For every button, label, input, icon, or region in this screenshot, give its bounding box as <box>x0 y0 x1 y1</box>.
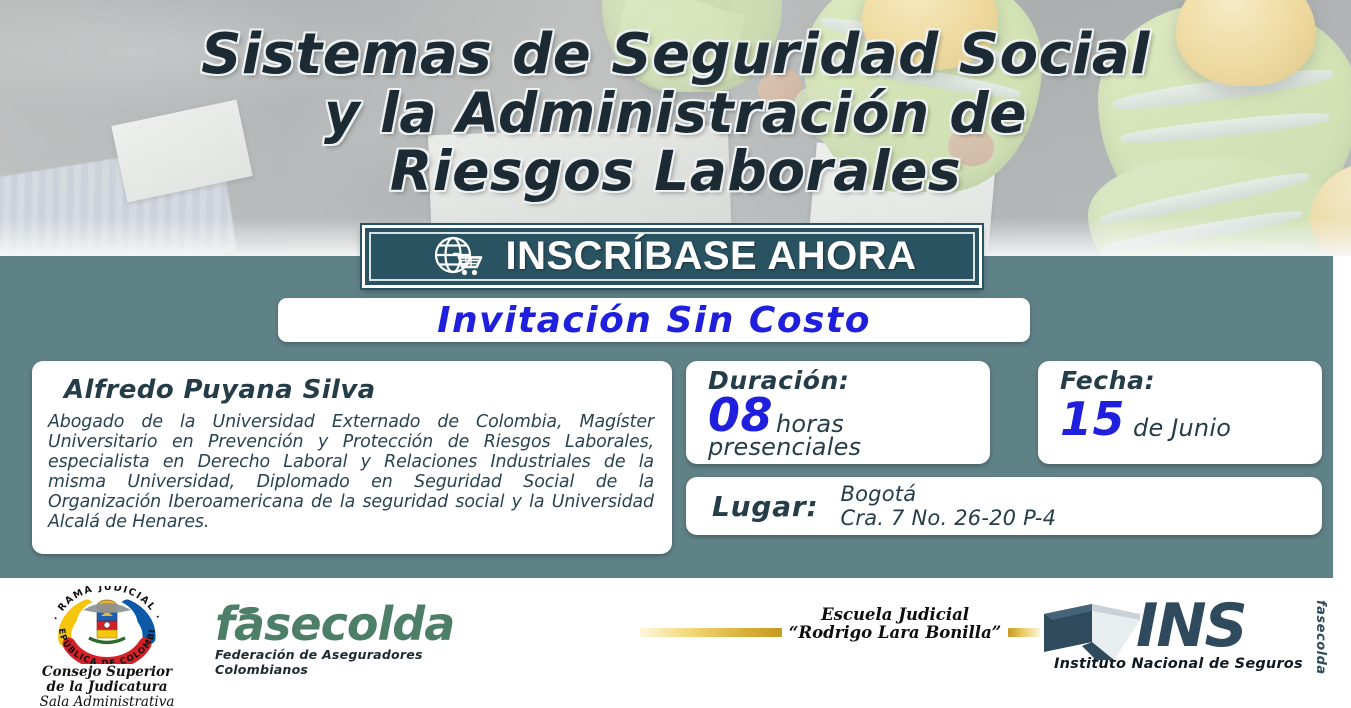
ins-mark-row: INS fasecolda <box>1040 596 1330 658</box>
speaker-bio: Abogado de la Universidad Externado de C… <box>46 412 658 533</box>
hero-photo <box>0 0 1351 256</box>
place-city: Bogotá <box>841 482 1057 506</box>
place-card: Lugar: Bogotá Cra. 7 No. 26-20 P-4 <box>686 477 1322 535</box>
gold-bar-right <box>1008 628 1040 637</box>
escuela-text: Escuela Judicial “Rodrigo Lara Bonilla” <box>789 606 1001 643</box>
rama-line-2: de la Judicatura <box>22 680 192 695</box>
speaker-name: Alfredo Puyana Silva <box>64 375 658 405</box>
escuela-line-2: “Rodrigo Lara Bonilla” <box>789 624 1001 642</box>
fasecolda-tagline: Federación de Aseguradores Colombianos <box>215 647 505 677</box>
gold-bar-left <box>640 628 782 637</box>
ins-wordmark: INS <box>1136 596 1246 656</box>
speaker-card: Alfredo Puyana Silva Abogado de la Unive… <box>32 361 672 554</box>
date-card: Fecha: 15 de Junio <box>1038 361 1322 464</box>
place-value: Bogotá Cra. 7 No. 26-20 P-4 <box>841 482 1057 531</box>
duration-card: Duración: 08 horas presenciales <box>686 361 990 464</box>
poster-canvas: Sistemas de Seguridad Social y la Admini… <box>0 0 1351 708</box>
ins-logo: INS fasecolda Instituto Nacional de Segu… <box>1040 596 1330 686</box>
fasecolda-wordmark-text: fasecolda <box>215 597 454 651</box>
cta-label: INSCRÍBASE AHORA <box>506 234 917 279</box>
place-address: Cra. 7 No. 26-20 P-4 <box>841 506 1057 530</box>
rama-line-1: Consejo Superior <box>22 665 192 680</box>
fasecolda-wordmark: fasecolda <box>215 602 505 646</box>
ins-fasecolda-vertical: fasecolda <box>1313 600 1328 675</box>
date-label: Fecha: <box>1060 367 1322 395</box>
invitation-banner: Invitación Sin Costo <box>278 298 1030 342</box>
duration-subtext: presenciales <box>708 433 990 461</box>
rama-judicial-logo: · RAMA JUDICIAL · REPÚBLICA DE COLOMBIA … <box>22 586 192 706</box>
date-value: 15 <box>1060 397 1125 442</box>
date-suffix: de Junio <box>1133 414 1231 442</box>
globe-shopping-cart-icon <box>428 234 490 280</box>
escuela-judicial-logo: Escuela Judicial “Rodrigo Lara Bonilla” <box>640 606 1040 643</box>
fasecolda-logo: fasecolda Federación de Aseguradores Col… <box>215 602 505 677</box>
invitation-text: Invitación Sin Costo <box>437 300 871 341</box>
place-label: Lugar: <box>712 490 819 523</box>
inscribase-ahora-button[interactable]: INSCRÍBASE AHORA <box>362 225 982 288</box>
escuela-line-1: Escuela Judicial <box>789 606 1001 624</box>
rama-judicial-seal-icon: · RAMA JUDICIAL · REPÚBLICA DE COLOMBIA <box>43 586 171 664</box>
footer-logo-bar: · RAMA JUDICIAL · REPÚBLICA DE COLOMBIA … <box>0 578 1351 708</box>
rama-line-3: Sala Administrativa <box>22 695 192 708</box>
ins-open-book-icon <box>1040 598 1150 660</box>
right-white-gutter <box>1333 256 1351 578</box>
duration-value: 08 <box>708 393 773 438</box>
